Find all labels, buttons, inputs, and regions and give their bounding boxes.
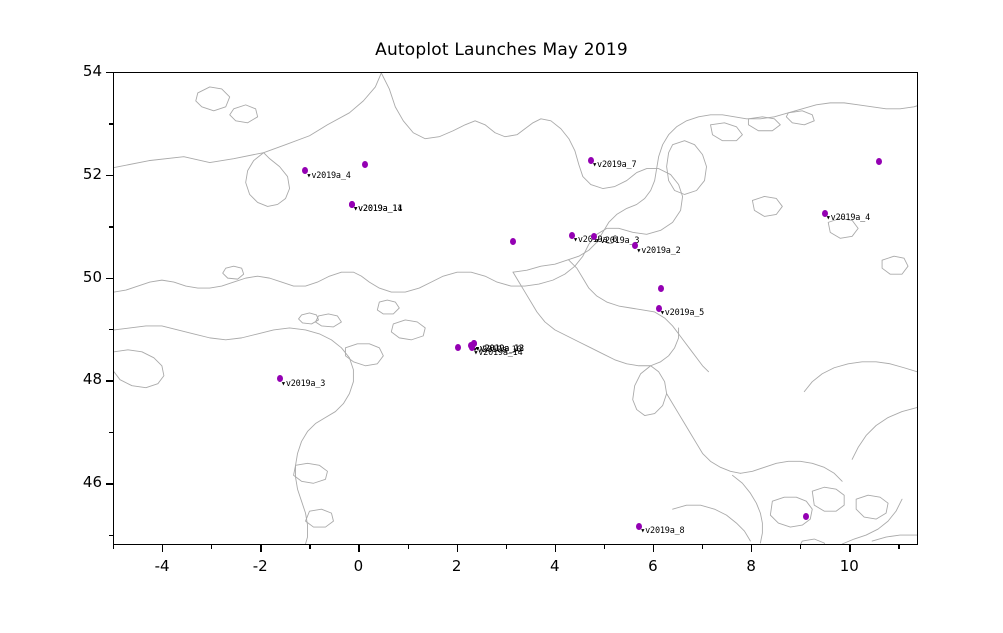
x-axis-tick [702, 545, 703, 549]
x-tick-label: 0 [328, 557, 388, 575]
data-point-label: ▾v2019a_14 [473, 349, 522, 358]
x-axis-tick [555, 545, 556, 552]
data-point [803, 513, 809, 520]
data-point-label: ▾v2019a_5 [660, 309, 704, 318]
x-axis-tick [751, 545, 752, 552]
data-point-label: ▾v2019a_4 [826, 214, 870, 223]
y-axis-tick [109, 535, 113, 536]
x-tick-label: -4 [132, 557, 192, 575]
y-axis-tick [106, 380, 113, 381]
data-point-label: ▾v2019a_7 [592, 161, 636, 170]
x-axis-tick [211, 545, 212, 549]
x-axis-tick [849, 545, 850, 552]
x-tick-label: 6 [623, 557, 683, 575]
x-axis-tick [260, 545, 261, 552]
data-point-label: ▾v2019a_4 [306, 172, 350, 181]
x-tick-label: -2 [230, 557, 290, 575]
x-tick-label: 4 [525, 557, 585, 575]
x-axis-tick [113, 545, 114, 549]
x-tick-label: 8 [721, 557, 781, 575]
y-axis-tick [109, 123, 113, 124]
y-tick-label: 50 [60, 268, 102, 286]
x-axis-tick [162, 545, 163, 552]
page-title: Autoplot Launches May 2019 [0, 40, 1003, 60]
y-axis-tick [109, 432, 113, 433]
x-axis-tick [653, 545, 654, 552]
x-axis-tick [506, 545, 507, 549]
x-axis-tick [898, 545, 899, 549]
data-point-label: ▾v2019a_3 [281, 380, 325, 389]
y-tick-label: 52 [60, 165, 102, 183]
data-point-label: ▾v2019a_14 [353, 205, 402, 214]
data-point [510, 238, 516, 245]
figure-canvas: Autoplot Launches May 2019 [0, 0, 1003, 633]
x-axis-tick [309, 545, 310, 549]
data-point [658, 285, 664, 292]
y-axis-tick [106, 483, 113, 484]
x-tick-label: 10 [819, 557, 879, 575]
data-point-label: ▾v2019a_2 [636, 247, 680, 256]
data-point [362, 161, 368, 168]
data-point [455, 344, 461, 351]
y-axis-tick [106, 72, 113, 73]
y-tick-label: 46 [60, 473, 102, 491]
x-axis-tick [408, 545, 409, 549]
y-tick-label: 48 [60, 370, 102, 388]
x-axis-tick [604, 545, 605, 549]
x-tick-label: 2 [427, 557, 487, 575]
y-axis-tick [106, 175, 113, 176]
y-tick-label: 54 [60, 62, 102, 80]
plot-area: ▾v2019a_4▾v2019a_11▾v2019a_14▾v2019a_7▾v… [113, 72, 918, 545]
y-axis-tick [109, 329, 113, 330]
data-points-layer: ▾v2019a_4▾v2019a_11▾v2019a_14▾v2019a_7▾v… [114, 73, 917, 544]
x-axis-tick [800, 545, 801, 549]
data-point-label: ▾v2019a_8 [640, 527, 684, 536]
x-axis-tick [358, 545, 359, 552]
x-axis-tick [457, 545, 458, 552]
data-point [876, 158, 882, 165]
y-axis-tick [106, 278, 113, 279]
y-axis-tick [109, 226, 113, 227]
